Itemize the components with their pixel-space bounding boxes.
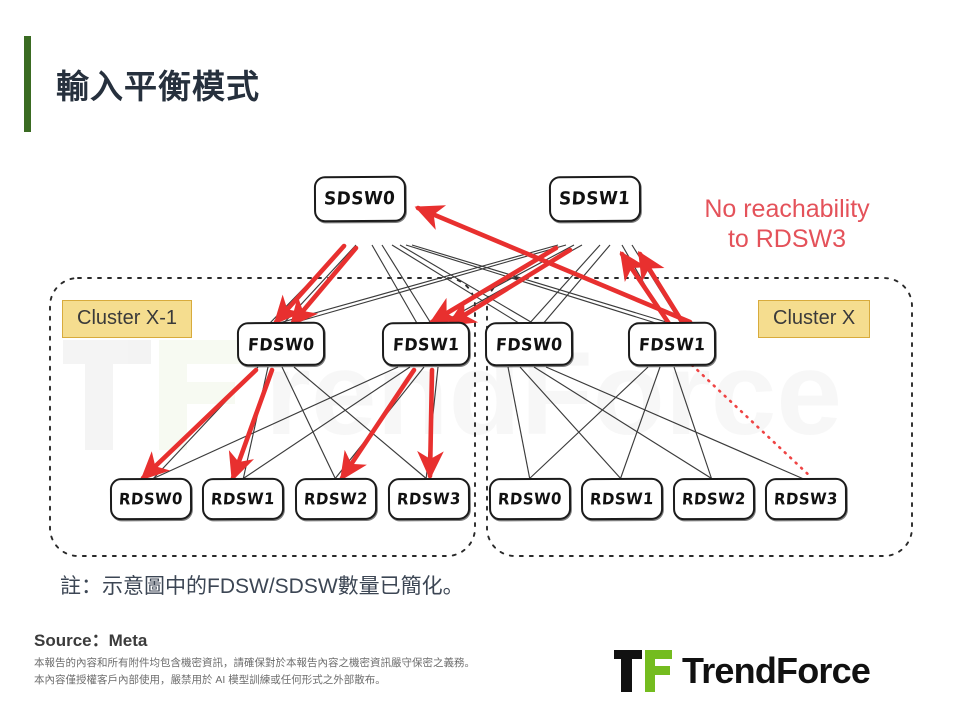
node-left-rdsw1-label: RDSW1	[210, 489, 275, 508]
traffic-arrow-sdsw0-to-lfdsw0	[276, 246, 344, 322]
trendforce-logo-mark	[612, 648, 674, 694]
node-sdsw0-label: SDSW0	[324, 188, 397, 210]
node-right-rdsw3[interactable]: RDSW3	[765, 478, 847, 521]
node-left-rdsw2-label: RDSW2	[303, 489, 368, 508]
node-sdsw1-label: SDSW1	[559, 188, 632, 210]
node-right-rdsw1[interactable]: RDSW1	[581, 478, 663, 521]
node-right-fdsw0-label: FDSW0	[495, 334, 563, 355]
cluster-label-x: Cluster X	[758, 300, 870, 338]
node-right-rdsw0-label: RDSW0	[497, 489, 562, 508]
node-right-rdsw3-label: RDSW3	[773, 489, 838, 508]
node-left-rdsw2[interactable]: RDSW2	[295, 478, 377, 521]
disclaimer-line-1: 本報告的內容和所有附件均包含機密資訊，請確保對於本報告內容之機密資訊嚴守保密之義…	[34, 655, 475, 672]
cluster-label-x-minus-1: Cluster X-1	[62, 300, 192, 338]
node-right-fdsw1-label: FDSW1	[638, 334, 706, 355]
node-left-rdsw0[interactable]: RDSW0	[110, 478, 192, 521]
node-left-rdsw3-label: RDSW3	[396, 489, 461, 508]
node-left-fdsw1[interactable]: FDSW1	[382, 322, 470, 367]
annotation-line-1: No reachability	[672, 195, 902, 225]
no-reachability-annotation: No reachability to RDSW3	[672, 195, 902, 254]
node-right-rdsw2[interactable]: RDSW2	[673, 478, 755, 521]
traffic-arrow-lfdsw1-to-rdsw3	[430, 370, 432, 476]
disclaimer-text: 本報告的內容和所有附件均包含機密資訊，請確保對於本報告內容之機密資訊嚴守保密之義…	[34, 655, 475, 689]
node-right-rdsw1-label: RDSW1	[589, 489, 654, 508]
disclaimer-line-2: 本內容僅授權客戶內部使用，嚴禁用於 AI 模型訓練或任何形式之外部散布。	[34, 672, 475, 689]
trendforce-logo: TrendForce	[612, 645, 942, 697]
node-right-rdsw0[interactable]: RDSW0	[489, 478, 571, 521]
network-topology-diagram: rendForce	[0, 150, 960, 580]
node-right-fdsw1[interactable]: FDSW1	[628, 322, 716, 367]
node-right-rdsw2-label: RDSW2	[681, 489, 746, 508]
traffic-arrow-sdsw0-to-lfdsw0-b	[292, 248, 356, 324]
page-title: 輸入平衡模式	[56, 60, 260, 108]
node-left-rdsw3[interactable]: RDSW3	[388, 478, 470, 521]
traffic-arrow-lfdsw1-to-rdsw2	[342, 370, 414, 478]
node-sdsw0[interactable]: SDSW0	[314, 176, 406, 223]
broken-link-rdsw3	[692, 365, 812, 478]
diagram-note: 註：示意圖中的FDSW/SDSW數量已簡化。	[60, 570, 464, 600]
trendforce-logo-text: TrendForce	[682, 650, 870, 692]
annotation-line-2: to RDSW3	[672, 225, 902, 255]
node-left-rdsw0-label: RDSW0	[118, 489, 183, 508]
source-label: Source：Meta	[34, 626, 147, 651]
node-left-rdsw1[interactable]: RDSW1	[202, 478, 284, 521]
node-left-fdsw0[interactable]: FDSW0	[237, 322, 325, 367]
node-right-fdsw0[interactable]: FDSW0	[485, 322, 573, 367]
node-left-fdsw1-label: FDSW1	[392, 334, 460, 355]
node-sdsw1[interactable]: SDSW1	[549, 176, 641, 223]
node-left-fdsw0-label: FDSW0	[247, 334, 315, 355]
title-accent-bar	[24, 36, 31, 132]
